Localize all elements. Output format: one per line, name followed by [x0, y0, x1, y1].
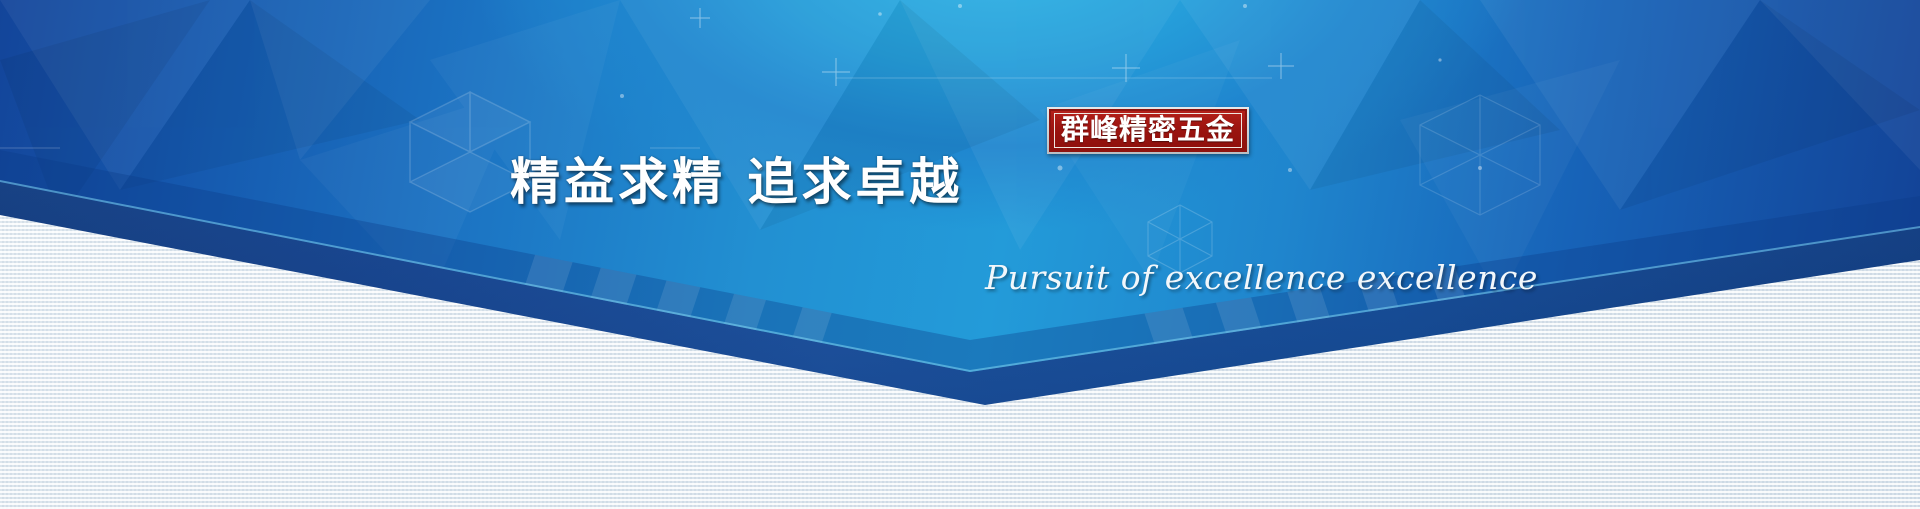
logo-text: 群峰精密五金: [1061, 115, 1235, 144]
hero-banner: 群峰精密五金 精益求精 追求卓越 Pursuit of excellence e…: [0, 0, 1920, 509]
logo-badge-inner: 群峰精密五金: [1049, 109, 1247, 152]
company-logo-badge[interactable]: 群峰精密五金: [1047, 107, 1249, 154]
banner-subheadline: Pursuit of excellence excellence: [985, 258, 1538, 297]
logo-badge-frame: 群峰精密五金: [1054, 113, 1242, 148]
banner-headline: 精益求精 追求卓越: [510, 142, 963, 214]
